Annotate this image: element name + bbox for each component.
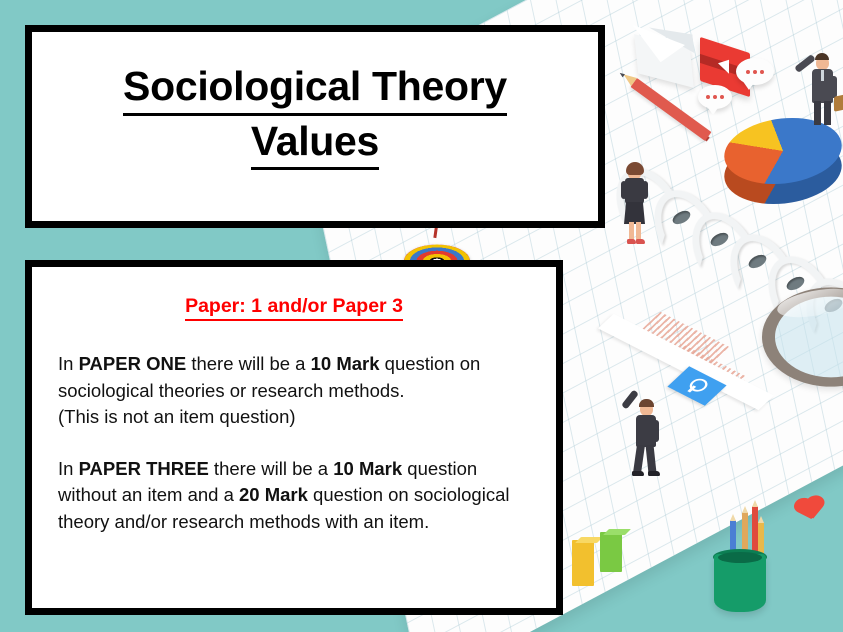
search-button[interactable]	[667, 366, 726, 405]
title-line-2: Values	[251, 116, 379, 170]
spiral-hole	[785, 274, 807, 293]
envelope-flap-back	[649, 25, 695, 61]
bar-block-yellow-top	[575, 537, 603, 543]
envelope-body	[634, 34, 694, 88]
search-icon-handle	[687, 385, 696, 392]
spiral-coil	[641, 179, 713, 245]
pie-chart	[723, 112, 843, 189]
title-box: Sociological Theory Values	[25, 25, 605, 228]
spiral-coil	[717, 223, 789, 289]
search-icon	[686, 376, 711, 394]
message-card	[700, 37, 750, 97]
play-icon	[718, 56, 729, 74]
paragraph-paper-one: In PAPER ONE there will be a 10 Mark que…	[58, 351, 530, 430]
briefcase-icon	[834, 91, 843, 112]
speech-bubble-tail	[706, 105, 720, 115]
spiral-hole	[671, 208, 693, 227]
para3-bold-10-mark: 10 Mark	[333, 458, 402, 479]
envelope-flap	[633, 25, 688, 69]
search-bar[interactable]	[598, 314, 774, 410]
text-scribble	[666, 345, 747, 394]
spiral-coil	[679, 201, 751, 267]
text-scribble	[640, 312, 730, 366]
magnifier-glare	[773, 283, 843, 322]
para1-seg1: In	[58, 353, 79, 374]
para3-seg2: there will be a	[209, 458, 333, 479]
paragraph-paper-three: In PAPER THREE there will be a 10 Mark q…	[58, 456, 530, 535]
magnifying-glass-icon	[755, 282, 843, 391]
message-card-side	[700, 54, 750, 79]
para1-bold-10-mark: 10 Mark	[311, 353, 380, 374]
para3-bold-paper-three: PAPER THREE	[79, 458, 209, 479]
paper-heading: Paper: 1 and/or Paper 3	[58, 295, 530, 321]
spiral-hole	[709, 230, 731, 249]
heart-icon	[790, 495, 827, 521]
title-line-1: Sociological Theory	[123, 61, 507, 115]
para3-seg1: In	[58, 458, 79, 479]
pencil-blue	[730, 520, 736, 562]
body-box: Paper: 1 and/or Paper 3 In PAPER ONE the…	[25, 260, 563, 615]
page-title: Sociological Theory Values	[123, 61, 507, 169]
speech-bubble-tail	[742, 80, 756, 90]
pencil-cup-inner	[718, 552, 762, 563]
pencil-cup-lip	[713, 549, 767, 565]
speech-bubble-icon	[736, 58, 774, 85]
paper-heading-text: Paper: 1 and/or Paper 3	[185, 295, 403, 321]
pencil-shadow	[632, 83, 709, 141]
para1-bold-paper-one: PAPER ONE	[79, 353, 187, 374]
pencil-orange	[742, 512, 748, 562]
bar-block-green	[600, 532, 622, 572]
para3-bold-20-mark: 20 Mark	[239, 484, 308, 505]
spiral-hole	[823, 296, 843, 315]
pencil-yellow	[758, 522, 764, 562]
pencil-cup	[714, 554, 766, 612]
bar-block-yellow	[572, 540, 594, 586]
para1-seg4: (This is not an item question)	[58, 406, 296, 427]
pencil-icon	[631, 78, 712, 141]
pencil-red	[752, 506, 758, 562]
spiral-coil	[793, 267, 843, 333]
slide-canvas: Sociological Theory Values Paper: 1 and/…	[0, 0, 843, 632]
para1-seg2: there will be a	[186, 353, 310, 374]
bar-block-green-top	[603, 529, 631, 535]
pie-chart-depth	[723, 132, 843, 209]
spiral-coil	[603, 157, 675, 223]
speech-bubble-icon	[698, 85, 732, 109]
spiral-coil	[755, 245, 827, 311]
spiral-hole	[747, 252, 769, 271]
